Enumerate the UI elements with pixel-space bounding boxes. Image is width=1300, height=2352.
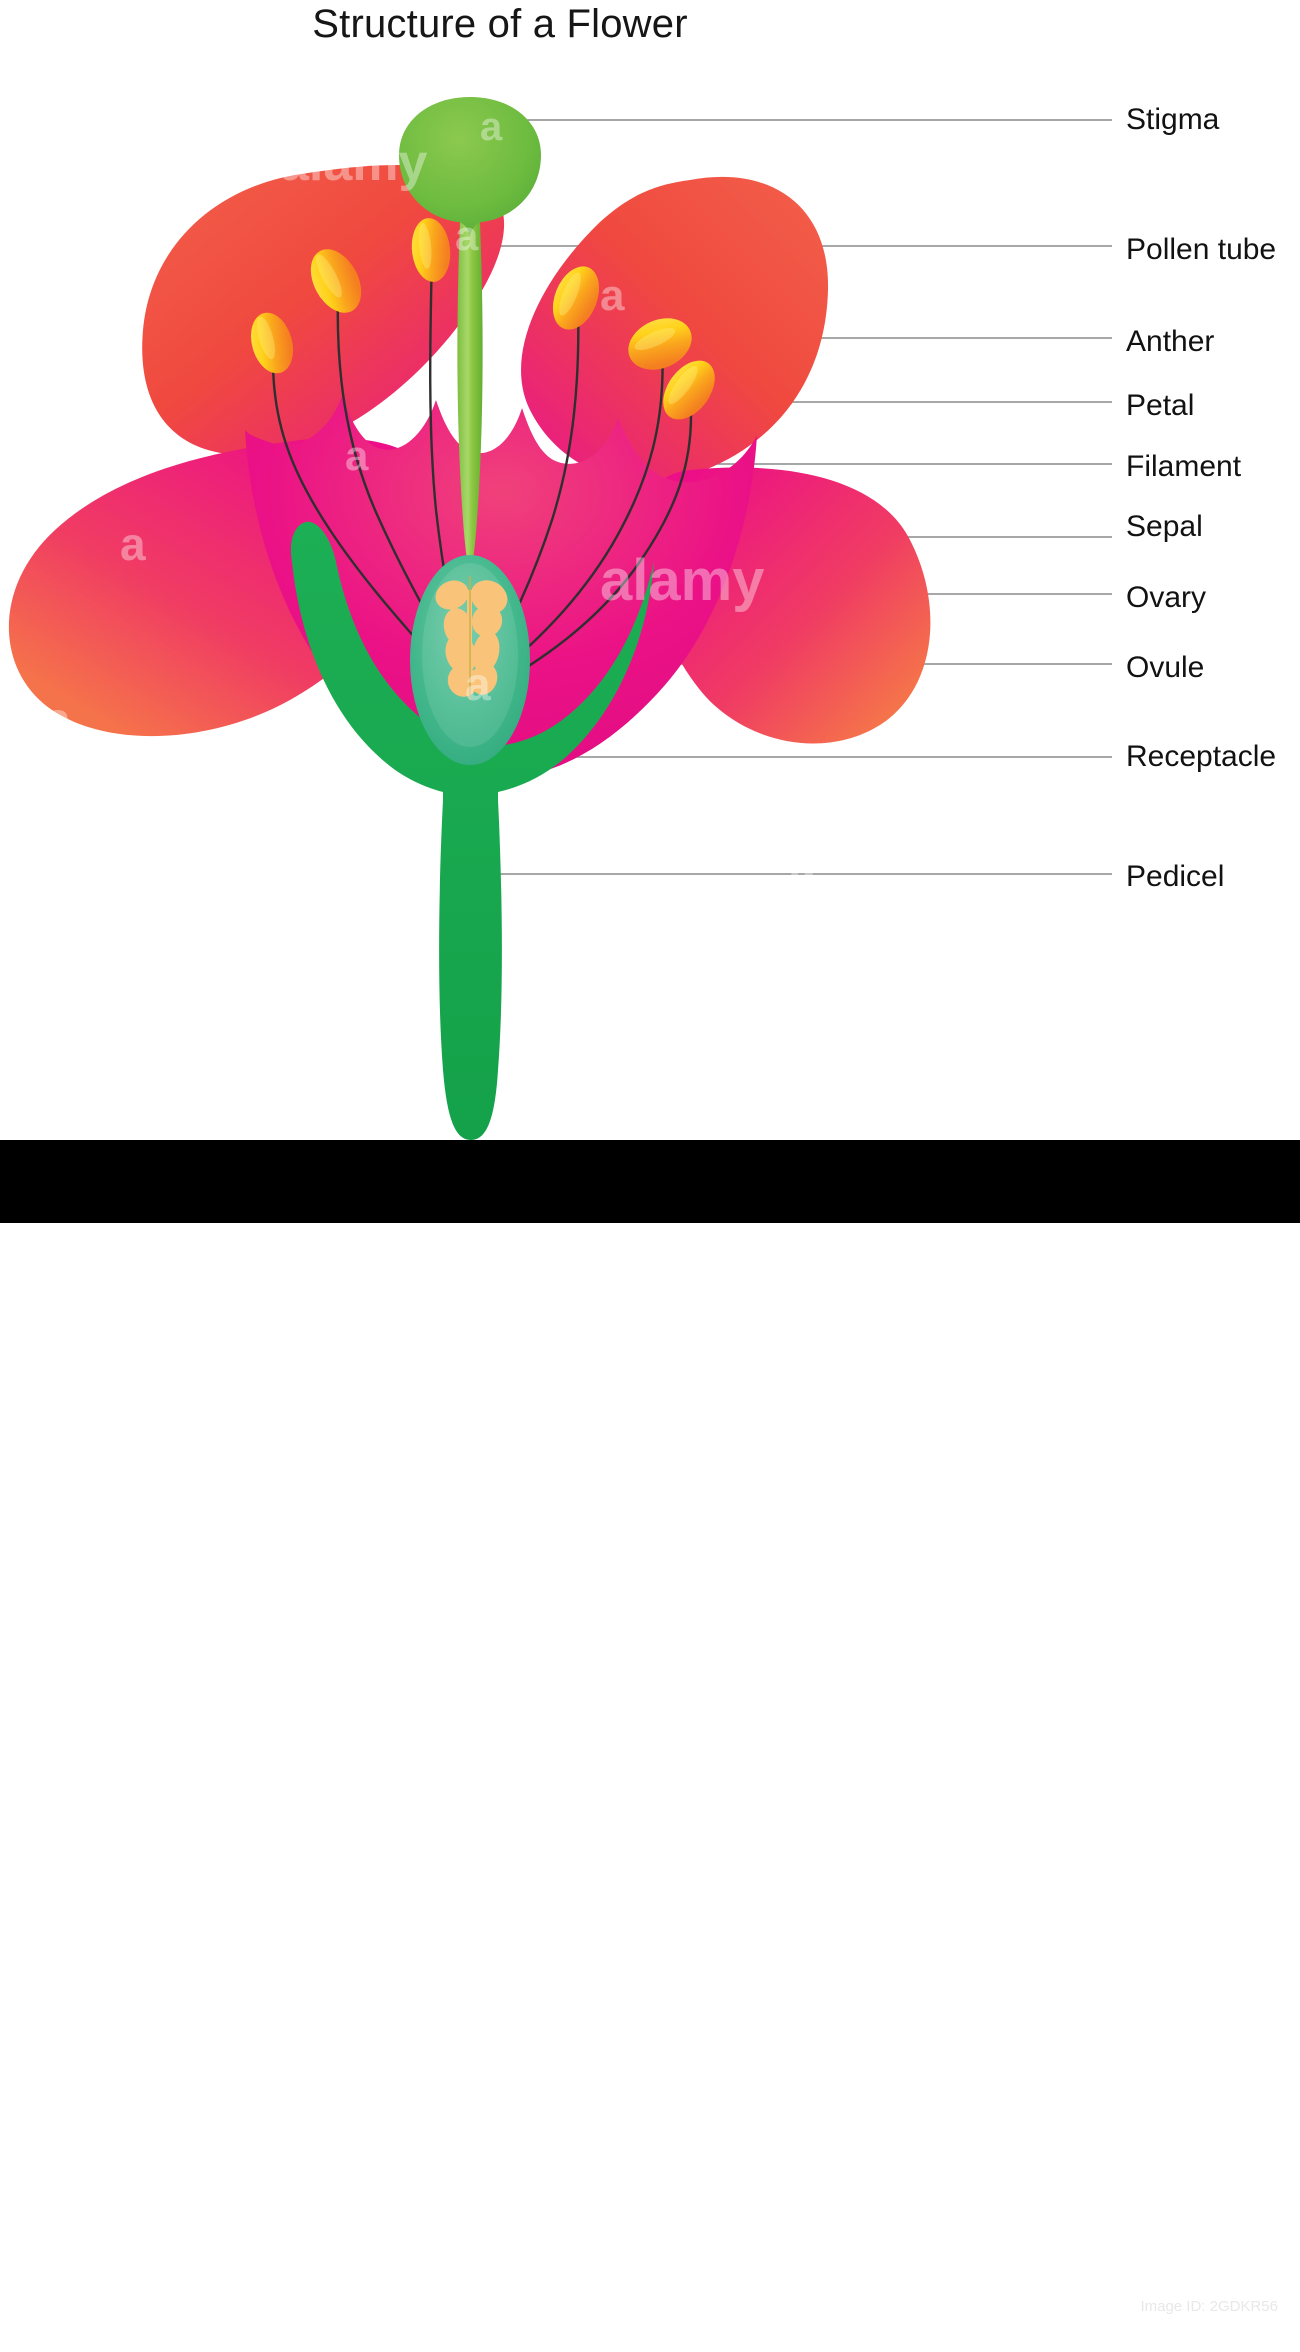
label-pedicel: Pedicel — [1126, 860, 1224, 894]
svg-text:a: a — [290, 863, 316, 915]
label-stigma: Stigma — [1126, 103, 1219, 137]
image-id-text: Image ID: 2GDKR56 — [1140, 2298, 1278, 2315]
label-ovule: Ovule — [1126, 651, 1204, 685]
label-pollen-tube: Pollen tube — [1126, 233, 1276, 267]
diagram-canvas: Structure of a Flower — [0, 0, 1300, 1223]
alamy-logo: alamy — [50, 2302, 121, 2352]
label-ovary: Ovary — [1126, 581, 1206, 615]
svg-text:a: a — [1000, 421, 1025, 470]
flower-illustration: a a a a a a a a alamy alamy a a a — [0, 0, 1300, 1150]
alamy-url-text: www.alamy.com — [1132, 2324, 1278, 2346]
label-filament: Filament — [1126, 450, 1241, 484]
label-receptacle: Receptacle — [1126, 740, 1276, 774]
watermark-footer: alamy Image ID: 2GDKR56 www.alamy.com — [0, 1140, 1300, 1223]
svg-text:a: a — [790, 838, 816, 890]
label-anther: Anther — [1126, 325, 1214, 359]
label-sepal: Sepal — [1126, 510, 1203, 544]
svg-text:a: a — [330, 721, 355, 770]
label-petal: Petal — [1126, 389, 1194, 423]
